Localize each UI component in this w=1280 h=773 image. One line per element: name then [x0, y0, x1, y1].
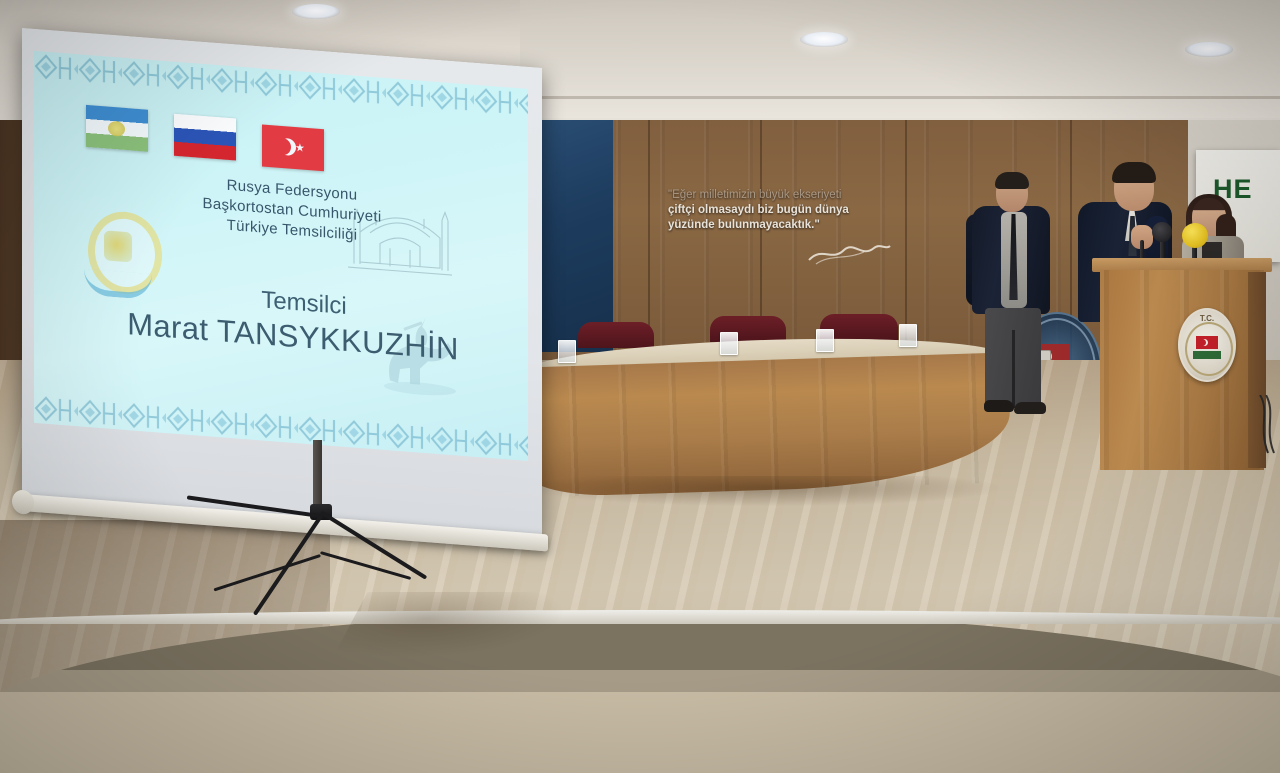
- turkey-flag-icon: ★: [262, 124, 324, 171]
- podium-emblem: T.C.: [1178, 308, 1236, 382]
- ceiling-soffit: [520, 0, 1280, 118]
- screen-surface: ★: [22, 28, 542, 538]
- presentation-slide: ★: [34, 51, 528, 461]
- ceiling-light-icon: [1185, 42, 1233, 57]
- slide-organization: Rusya Federsyonu Başkortostan Cumhuriyet…: [152, 170, 432, 252]
- podium-cables: [1256, 395, 1280, 455]
- head-table: [520, 330, 1010, 510]
- ceiling-seam: [520, 96, 1280, 99]
- ataturk-signature-icon: [806, 240, 892, 266]
- conference-hall-photo: 1963 "Eğer milletimizin büyük ekseriyeti…: [0, 0, 1280, 773]
- water-glass: [720, 332, 738, 355]
- ceiling-light-icon: [292, 4, 340, 19]
- screen-tripod-stand: [200, 500, 530, 690]
- russia-flag-icon: [174, 114, 236, 161]
- bashkortostan-flag-emblem-icon: [108, 121, 125, 137]
- yellow-microphone-icon: [1182, 223, 1208, 248]
- water-glass: [558, 340, 576, 363]
- black-microphone-icon: [1152, 222, 1172, 242]
- tripod-column: [313, 440, 322, 510]
- quote-line-2: çiftçi olmasaydı biz bugün dünya: [668, 203, 884, 218]
- ceiling-light-icon: [800, 32, 848, 47]
- quote-line-1: "Eğer milletimizin büyük ekseriyeti: [668, 188, 884, 203]
- quote-line-3: yüzünde bulunmayacaktık.": [668, 218, 884, 233]
- tripod-brace: [320, 551, 411, 580]
- water-glass: [899, 324, 917, 347]
- bashkortostan-coat-of-arms-icon: [82, 207, 154, 299]
- ataturk-quote: "Eğer milletimizin büyük ekseriyeti çift…: [668, 188, 884, 233]
- ornament-border-bottom-icon: [34, 393, 528, 461]
- chair: [578, 322, 654, 348]
- tripod-brace: [213, 554, 320, 591]
- water-glass: [816, 329, 834, 352]
- screen-bar-end-cap: [12, 489, 34, 515]
